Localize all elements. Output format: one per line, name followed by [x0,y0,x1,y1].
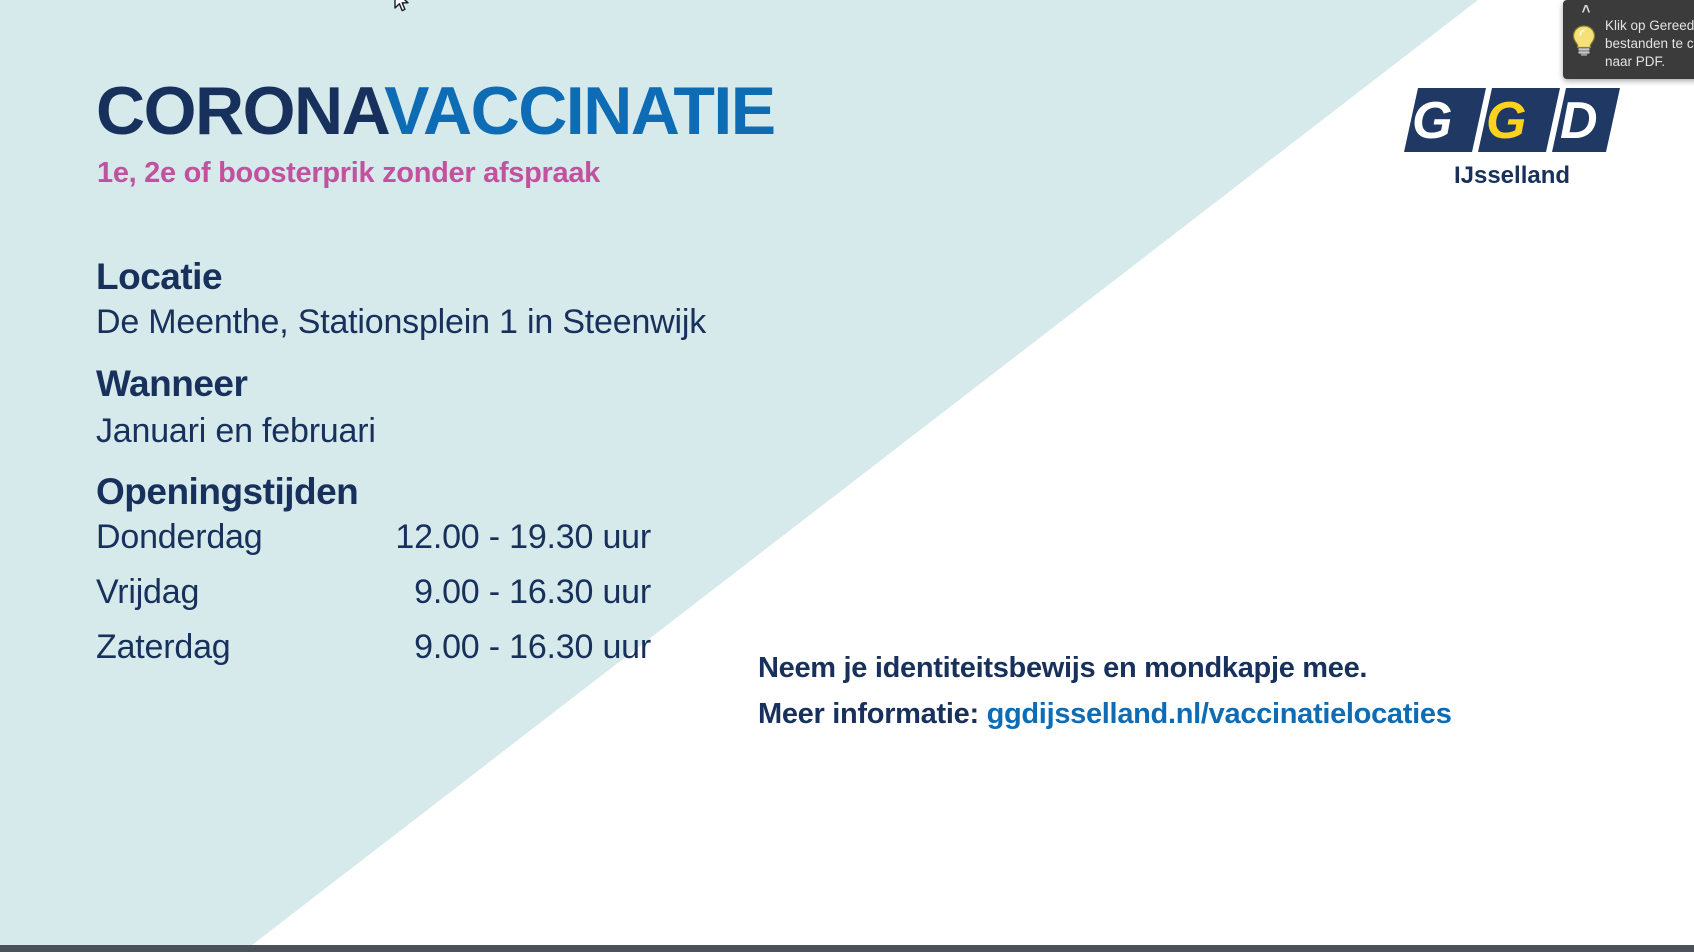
ggd-logo: G G D IJsselland [1404,88,1620,190]
acrobat-tooltip[interactable]: ˄ Klik op Gereedsch bestanden te conv na… [1563,0,1694,79]
hours-time-value: 9.00 - 16.30 uur [341,573,651,612]
poster-canvas: CORONAVACCINATIE 1e, 2e of boosterprik z… [0,0,1694,952]
acrobat-tooltip-text: Klik op Gereedsch bestanden te conv naar… [1605,17,1694,71]
hours-day-label: Zaterdag [96,628,341,667]
hours-day-label: Donderdag [96,518,341,557]
svg-text:G: G [1486,92,1526,150]
svg-text:G: G [1412,92,1452,150]
opening-hours-table: Donderdag 12.00 - 19.30 uur Vrijdag 9.00… [96,518,651,683]
hours-day-label: Vrijdag [96,573,341,612]
hours-time-value: 12.00 - 19.30 uur [341,518,651,557]
hours-time-value: 9.00 - 16.30 uur [341,628,651,667]
section-body-locatie: De Meenthe, Stationsplein 1 in Steenwijk [96,303,706,342]
table-row: Vrijdag 9.00 - 16.30 uur [96,573,651,628]
footnote-line-1: Neem je identiteitsbewijs en mondkapje m… [758,652,1367,685]
table-row: Zaterdag 9.00 - 16.30 uur [96,628,651,683]
title-word-vaccinatie: VACCINATIE [384,73,774,149]
title-word-corona: CORONA [96,73,384,149]
ggd-logo-mark: G G D [1404,88,1620,152]
svg-text:D: D [1560,92,1598,150]
ggd-logo-caption: IJsselland [1404,162,1620,190]
section-heading-wanneer: Wanneer [96,363,247,405]
footnote-url-prefix: Meer informatie: [758,698,987,730]
chevron-up-icon[interactable]: ˄ [1578,4,1594,16]
website-link[interactable]: ggdijsselland.nl/vaccinatielocaties [987,698,1452,730]
footnote-line-2: Meer informatie: ggdijsselland.nl/vaccin… [758,698,1452,731]
section-heading-openingstijden: Openingstijden [96,471,358,513]
page-subtitle: 1e, 2e of boosterprik zonder afspraak [97,157,600,190]
section-heading-locatie: Locatie [96,256,222,298]
ggd-logo-icon: G G D [1404,88,1620,152]
table-row: Donderdag 12.00 - 19.30 uur [96,518,651,573]
page-title: CORONAVACCINATIE [96,77,775,145]
mouse-cursor [394,0,412,14]
bottom-bar [0,945,1694,952]
lightbulb-icon [1571,24,1597,56]
section-body-wanneer: Januari en februari [96,412,376,451]
